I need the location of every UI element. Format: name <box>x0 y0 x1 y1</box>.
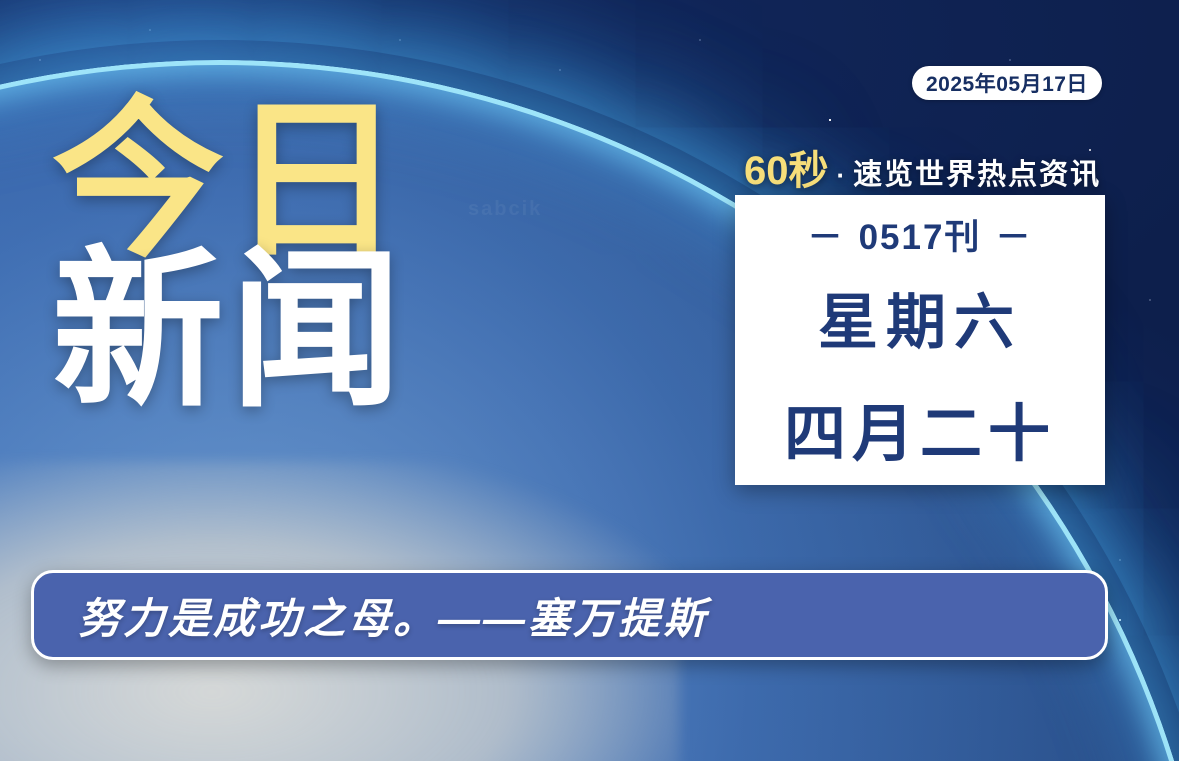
issue-row: － 0517刊 － <box>808 209 1033 260</box>
lunar-date-label: 四月二十 <box>784 383 1056 473</box>
tagline-seconds: 60秒 <box>744 138 829 196</box>
issue-dash-right: － <box>995 209 1032 260</box>
page-title-line-2: 新闻 <box>52 252 472 412</box>
date-card: － 0517刊 － 星期六 四月二十 <box>735 195 1105 485</box>
issue-dash-left: － <box>808 209 845 260</box>
tagline: 60秒 · 速览世界热点资讯 <box>744 138 1101 196</box>
quote-bar: 努力是成功之母。——塞万提斯 <box>31 570 1108 660</box>
news-poster: sabcik 2025年05月17日 今日 新闻 60秒 · 速览世界热点资讯 … <box>0 0 1179 761</box>
quote-text: 努力是成功之母。——塞万提斯 <box>78 585 708 646</box>
watermark-text: sabcik <box>468 198 542 221</box>
tagline-text: 速览世界热点资讯 <box>853 151 1101 193</box>
date-badge: 2025年05月17日 <box>912 66 1102 100</box>
issue-number: 0517刊 <box>859 209 982 260</box>
date-badge-label: 2025年05月17日 <box>926 68 1088 98</box>
tagline-separator: · <box>835 160 848 191</box>
page-title: 今日 新闻 <box>52 102 472 412</box>
weekday-label: 星期六 <box>818 274 1022 361</box>
